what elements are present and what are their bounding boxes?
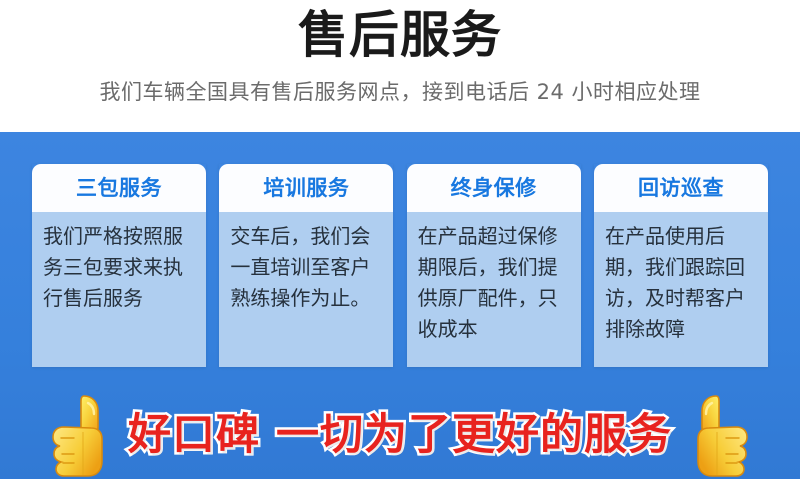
blue-content-panel: 三包服务 我们严格按照服务三包要求来执行售后服务 培训服务 交车后，我们会一直培… xyxy=(0,132,800,479)
service-card-2-text: 交车后，我们会一直培训至客户熟练操作为止。 xyxy=(230,224,370,310)
service-card-2-header: 培训服务 xyxy=(219,164,393,212)
service-card-1-header: 三包服务 xyxy=(32,164,206,212)
service-card-3-header: 终身保修 xyxy=(407,164,581,212)
service-card-1-title: 三包服务 xyxy=(76,176,162,200)
header-section: 售后服务 我们车辆全国具有售后服务网点，接到电话后 24 小时相应处理 xyxy=(0,0,800,132)
service-card-4[interactable]: 回访巡查 在产品使用后期，我们跟踪回访，及时帮客户排除故障 xyxy=(594,164,768,367)
service-card-2-body: 交车后，我们会一直培训至客户熟练操作为止。 xyxy=(219,212,393,367)
service-card-2[interactable]: 培训服务 交车后，我们会一直培训至客户熟练操作为止。 xyxy=(219,164,393,367)
page-title: 售后服务 xyxy=(0,0,800,66)
service-card-3[interactable]: 终身保修 在产品超过保修期限后，我们提供原厂配件，只收成本 xyxy=(407,164,581,367)
slogan-text: 好口碑 一切为了更好的服务 xyxy=(128,409,672,461)
promo-banner: 售后服务 我们车辆全国具有售后服务网点，接到电话后 24 小时相应处理 三包服务… xyxy=(0,0,800,479)
service-card-4-title: 回访巡查 xyxy=(638,176,724,200)
page-subtitle: 我们车辆全国具有售后服务网点，接到电话后 24 小时相应处理 xyxy=(0,66,800,106)
service-card-3-title: 终身保修 xyxy=(451,176,537,200)
thumbs-up-icon xyxy=(50,393,114,477)
thumbs-up-icon xyxy=(686,393,750,477)
service-card-4-text: 在产品使用后期，我们跟踪回访，及时帮客户排除故障 xyxy=(605,224,745,341)
service-card-4-header: 回访巡查 xyxy=(594,164,768,212)
service-card-2-title: 培训服务 xyxy=(263,176,349,200)
service-card-1-body: 我们严格按照服务三包要求来执行售后服务 xyxy=(32,212,206,367)
service-card-4-body: 在产品使用后期，我们跟踪回访，及时帮客户排除故障 xyxy=(594,212,768,367)
service-card-1-text: 我们严格按照服务三包要求来执行售后服务 xyxy=(43,224,183,310)
service-card-3-body: 在产品超过保修期限后，我们提供原厂配件，只收成本 xyxy=(407,212,581,367)
slogan-row: 好口碑 一切为了更好的服务 xyxy=(0,390,800,479)
service-card-1[interactable]: 三包服务 我们严格按照服务三包要求来执行售后服务 xyxy=(32,164,206,367)
service-card-3-text: 在产品超过保修期限后，我们提供原厂配件，只收成本 xyxy=(418,224,558,341)
service-cards-row: 三包服务 我们严格按照服务三包要求来执行售后服务 培训服务 交车后，我们会一直培… xyxy=(32,164,768,367)
